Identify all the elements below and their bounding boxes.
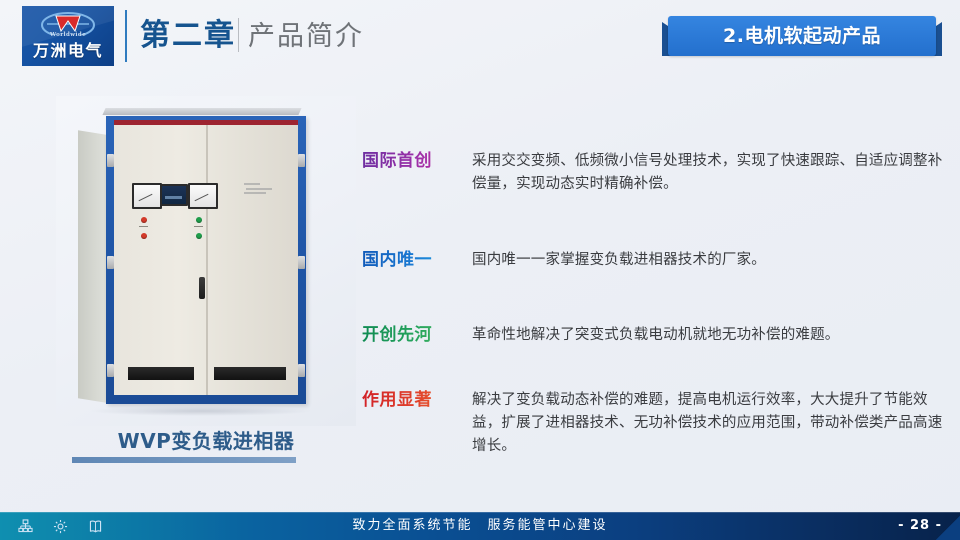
cabinet-doors	[114, 125, 298, 395]
red-indicator-lamp	[141, 217, 147, 223]
cabinet-hinge	[107, 256, 114, 269]
cabinet-hinge	[298, 154, 305, 167]
footer-corner-accent	[934, 512, 960, 540]
product-caption: WVP变负载进相器	[56, 428, 356, 454]
cabinet-shadow	[88, 406, 314, 416]
chapter-subtitle: 产品简介	[248, 16, 364, 58]
feature-row: 作用显著 解决了变负载动态补偿的难题，提高电机运行效率，大大提升了节能效益，扩展…	[362, 389, 946, 458]
header-accent-bar	[125, 10, 127, 62]
logo-company-name: 万洲电气	[22, 40, 114, 62]
company-logo: Worldwide 万洲电气	[22, 6, 114, 66]
feature-list: 国际首创 采用交交变频、低频微小信号处理技术，实现了快速跟踪、自适应调整补偿量，…	[362, 150, 946, 458]
feature-row: 国际首创 采用交交变频、低频微小信号处理技术，实现了快速跟踪、自适应调整补偿量，…	[362, 150, 946, 196]
slide-header: Worldwide 万洲电气 第二章 产品简介 2.电机软起动产品	[0, 0, 960, 76]
cabinet-hinge	[107, 154, 114, 167]
logo-tagline: Worldwide	[22, 32, 114, 38]
cabinet-door-seam	[206, 125, 208, 395]
feature-text: 国内唯一一家掌握变负载进相器技术的厂家。	[458, 249, 946, 272]
badge-body: 2.电机软起动产品	[668, 16, 936, 56]
feature-label: 国际首创	[362, 150, 458, 172]
green-indicator-lamp	[196, 217, 202, 223]
lamp-label-line	[194, 226, 203, 227]
section-badge: 2.电机软起动产品	[662, 16, 942, 58]
feature-text: 革命性地解决了突变式负载电动机就地无功补偿的难题。	[458, 324, 946, 347]
footer-slogan: 致力全面系统节能 服务能管中心建设	[0, 512, 960, 540]
header-separator	[238, 18, 239, 52]
feature-text: 解决了变负载动态补偿的难题，提高电机运行效率，大大提升了节能效益，扩展了进相器技…	[458, 389, 946, 458]
green-indicator-lamp	[196, 233, 202, 239]
lamp-label-line	[139, 226, 148, 227]
slide: Worldwide 万洲电气 第二章 产品简介 2.电机软起动产品	[0, 0, 960, 540]
cabinet-frame	[106, 116, 306, 404]
caption-underline	[72, 457, 296, 463]
feature-label: 开创先河	[362, 324, 458, 346]
analog-meter-icon	[188, 183, 218, 209]
slide-footer: 致力全面系统节能 服务能管中心建设 - 28 -	[0, 512, 960, 540]
analog-meter-icon	[132, 183, 162, 209]
cabinet-hinge	[298, 364, 305, 377]
red-indicator-lamp	[141, 233, 147, 239]
cabinet-vent	[128, 367, 194, 380]
cabinet-door-handle	[199, 277, 205, 299]
feature-row: 国内唯一 国内唯一一家掌握变负载进相器技术的厂家。	[362, 249, 946, 272]
digital-display-icon	[160, 184, 188, 206]
feature-label: 作用显著	[362, 389, 458, 411]
feature-text: 采用交交变频、低频微小信号处理技术，实现了快速跟踪、自适应调整补偿量，实现动态实…	[458, 150, 946, 196]
badge-label: 2.电机软起动产品	[668, 16, 936, 56]
cabinet-hinge	[298, 256, 305, 269]
cabinet-top-rail	[102, 108, 301, 115]
feature-row: 开创先河 革命性地解决了突变式负载电动机就地无功补偿的难题。	[362, 324, 946, 347]
product-photo	[56, 96, 356, 426]
chapter-title: 第二章	[140, 14, 236, 58]
cabinet-brand-mark	[242, 181, 286, 195]
cabinet-hinge	[107, 364, 114, 377]
cabinet-vent	[214, 367, 286, 380]
feature-label: 国内唯一	[362, 249, 458, 271]
cabinet-illustration	[78, 114, 318, 409]
